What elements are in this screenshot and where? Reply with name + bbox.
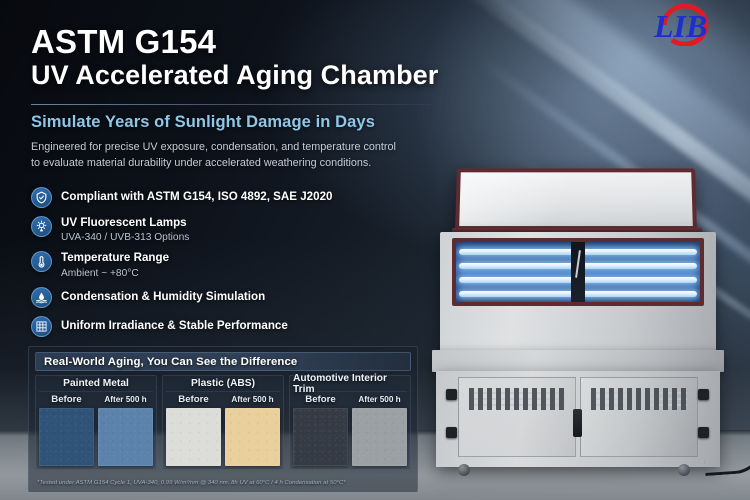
lede-text: Engineered for precise UV exposure, cond… bbox=[31, 140, 436, 171]
group-title: Painted Metal bbox=[39, 376, 153, 392]
swatch-after bbox=[225, 408, 280, 466]
feature-title: Condensation & Humidity Simulation bbox=[61, 290, 265, 303]
power-cable bbox=[703, 428, 750, 476]
comparison-group-automotive-trim: Automotive Interior Trim Before After 50… bbox=[289, 375, 411, 470]
page-title: ASTM G154 UV Accelerated Aging Chamber bbox=[31, 24, 471, 92]
lib-logo-text: LIB bbox=[653, 8, 707, 44]
swatch-after bbox=[98, 408, 153, 466]
label-after: After 500 h bbox=[352, 392, 407, 407]
title-line-2: UV Accelerated Aging Chamber bbox=[31, 60, 471, 92]
label-before: Before bbox=[166, 392, 221, 407]
feature-title: Temperature Range bbox=[61, 251, 169, 265]
comparison-group-painted-metal: Painted Metal Before After 500 h bbox=[35, 375, 157, 470]
group-sublabels: Before After 500 h bbox=[293, 392, 407, 407]
group-sublabels: Before After 500 h bbox=[166, 392, 280, 407]
lede-line-1: Engineered for precise UV exposure, cond… bbox=[31, 140, 436, 156]
feature-title: Uniform Irradiance & Stable Performance bbox=[61, 319, 288, 332]
group-swatches bbox=[39, 408, 153, 466]
comparison-panel: Real-World Aging, You Can See the Differ… bbox=[28, 346, 418, 492]
group-swatches bbox=[293, 408, 407, 466]
label-after: After 500 h bbox=[225, 392, 280, 407]
door-hinge bbox=[446, 389, 457, 400]
comparison-group-plastic-abs: Plastic (ABS) Before After 500 h bbox=[162, 375, 284, 470]
chamber-upper-body bbox=[440, 232, 716, 350]
chamber-skirt bbox=[432, 350, 724, 372]
title-divider bbox=[31, 104, 431, 105]
feature-item-lamps: UV Fluorescent Lamps UVA-340 / UVB-313 O… bbox=[31, 215, 431, 244]
feature-subtitle: UVA-340 / UVB-313 Options bbox=[61, 231, 189, 244]
swatch-before bbox=[166, 408, 221, 466]
chamber-cabinet bbox=[436, 371, 720, 467]
feature-title: Compliant with ASTM G154, ISO 4892, SAE … bbox=[61, 190, 332, 203]
group-title: Automotive Interior Trim bbox=[293, 376, 407, 392]
chamber-lid bbox=[455, 168, 697, 230]
caster-wheel bbox=[458, 464, 470, 476]
group-swatches bbox=[166, 408, 280, 466]
thermometer-icon bbox=[31, 251, 52, 272]
caster-wheel bbox=[678, 464, 690, 476]
shield-check-icon bbox=[31, 187, 52, 208]
label-before: Before bbox=[39, 392, 94, 407]
grid-irradiance-icon bbox=[31, 316, 52, 337]
swatch-after bbox=[352, 408, 407, 466]
chamber-lamp-window bbox=[452, 238, 704, 306]
title-line-1: ASTM G154 bbox=[31, 24, 471, 59]
label-before: Before bbox=[293, 392, 348, 407]
uv-lamp-array bbox=[456, 242, 700, 302]
product-chamber-image bbox=[432, 168, 728, 488]
door-hinge bbox=[698, 389, 709, 400]
lede-line-2: to evaluate material durability under ac… bbox=[31, 156, 436, 172]
feature-item-temperature: Temperature Range Ambient ~ +80°C bbox=[31, 250, 431, 279]
cabinet-door-handle bbox=[573, 409, 582, 437]
feature-subtitle: Ambient ~ +80°C bbox=[61, 267, 169, 280]
feature-list: Compliant with ASTM G154, ISO 4892, SAE … bbox=[31, 186, 431, 344]
group-title: Plastic (ABS) bbox=[166, 376, 280, 392]
feature-item-irradiance: Uniform Irradiance & Stable Performance bbox=[31, 315, 431, 337]
lib-logo[interactable]: LIB bbox=[624, 4, 734, 46]
chamber-center-divider bbox=[571, 242, 585, 302]
comparison-banner: Real-World Aging, You Can See the Differ… bbox=[35, 352, 411, 371]
vent-grille bbox=[591, 388, 687, 410]
comparison-groups: Painted Metal Before After 500 h Plastic… bbox=[35, 375, 411, 470]
label-after: After 500 h bbox=[98, 392, 153, 407]
feature-item-compliance: Compliant with ASTM G154, ISO 4892, SAE … bbox=[31, 186, 431, 208]
comparison-banner-text: Real-World Aging, You Can See the Differ… bbox=[44, 356, 297, 368]
swatch-before bbox=[39, 408, 94, 466]
water-droplet-icon bbox=[31, 287, 52, 308]
door-hinge bbox=[446, 427, 457, 438]
group-sublabels: Before After 500 h bbox=[39, 392, 153, 407]
subtitle: Simulate Years of Sunlight Damage in Day… bbox=[31, 113, 461, 132]
vent-grille bbox=[469, 388, 565, 410]
uv-lamp-icon bbox=[31, 216, 52, 237]
feature-item-condensation: Condensation & Humidity Simulation bbox=[31, 286, 431, 308]
lib-logo-mark: LIB bbox=[624, 4, 734, 46]
comparison-footnote: *Tested under ASTM G154 Cycle 1, UVA-340… bbox=[37, 480, 409, 486]
feature-title: UV Fluorescent Lamps bbox=[61, 216, 189, 230]
cabinet-door-left bbox=[458, 377, 576, 457]
promo-banner: LIB ASTM G154 UV Accelerated Aging Chamb… bbox=[0, 0, 750, 500]
cabinet-door-right bbox=[580, 377, 698, 457]
swatch-before bbox=[293, 408, 348, 466]
